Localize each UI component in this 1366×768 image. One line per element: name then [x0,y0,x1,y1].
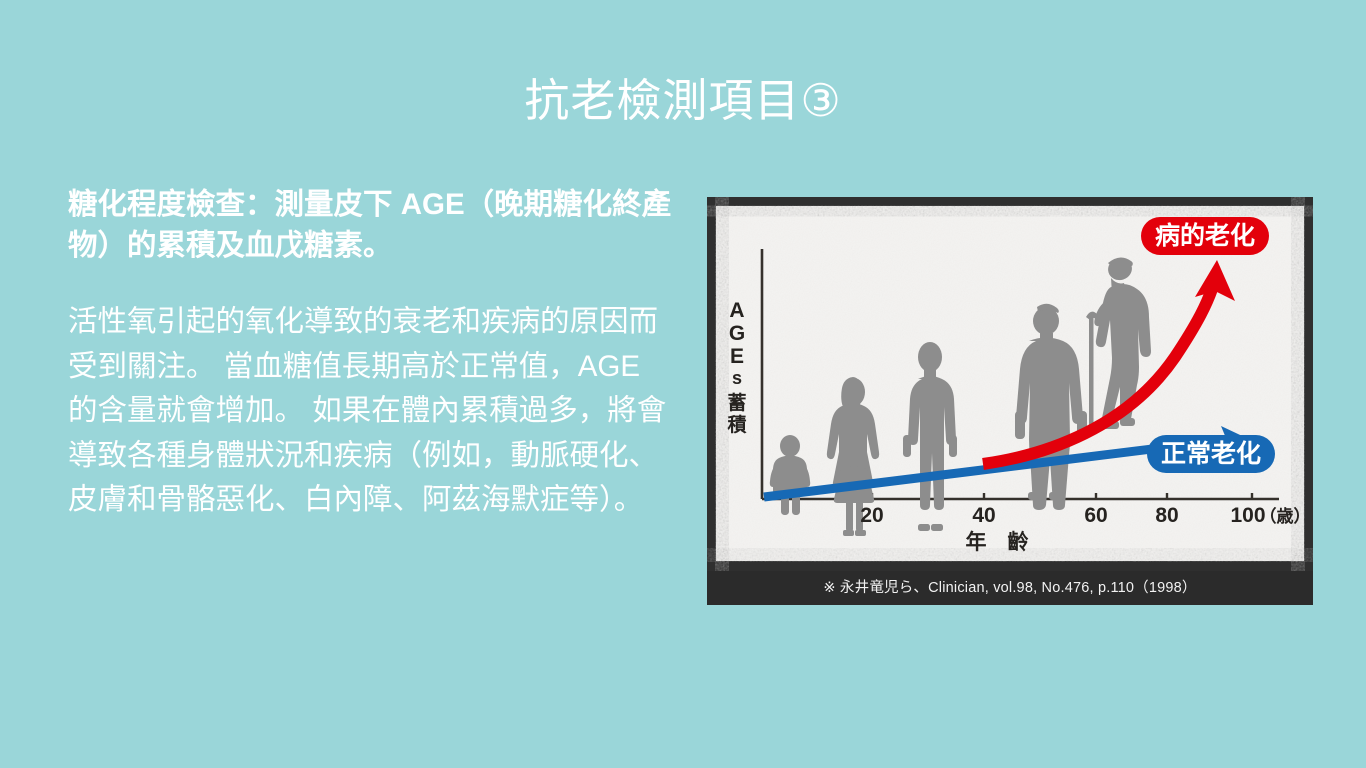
y-axis-label: A G E s 蓄 積 [727,299,746,436]
callout-normal-aging: 正常老化 [1147,435,1275,473]
page-title: 抗老檢測項目③ [0,72,1366,130]
scan-edge-top [716,206,1304,216]
svg-text:積: 積 [727,413,746,436]
x-tick-60: 60 [1084,504,1107,527]
text-column: 糖化程度檢查：測量皮下 AGE（晚期糖化終產物）的累積及血戊糖素。 活性氧引起的… [68,184,676,523]
body-paragraph: 活性氧引起的氧化導致的衰老和疾病的原因而受到關注。 當血糖值長期高於正常值，AG… [68,300,676,523]
figure-caption: ※ 永井竜児ら、Clinician, vol.98, No.476, p.110… [707,571,1313,605]
svg-text:E: E [730,345,744,368]
x-tick-40: 40 [972,504,995,527]
svg-text:G: G [729,322,745,345]
scan-edge-left [716,206,728,561]
paper-grain [716,206,1304,561]
chart-canvas: A G E s 蓄 積 [707,197,1313,605]
callout-pathological-aging: 病的老化 [1141,217,1269,255]
svg-text:A: A [729,299,744,322]
lead-paragraph: 糖化程度檢查：測量皮下 AGE（晚期糖化終產物）的累積及血戊糖素。 [68,184,676,266]
svg-text:s: s [732,368,742,388]
x-axis-title: 年 齡 [966,530,1029,554]
age-accumulation-figure: A G E s 蓄 積 [707,197,1313,605]
slide-root: 抗老檢測項目③ 糖化程度檢查：測量皮下 AGE（晚期糖化終產物）的累積及血戊糖素… [0,0,1366,768]
x-tick-20: 20 [860,504,883,527]
callout-normal-label: 正常老化 [1161,440,1261,468]
x-tick-80: 80 [1155,504,1178,527]
svg-text:蓄: 蓄 [727,391,746,414]
callout-pathological-label: 病的老化 [1155,221,1255,250]
x-axis-unit: （歳） [1260,506,1311,526]
